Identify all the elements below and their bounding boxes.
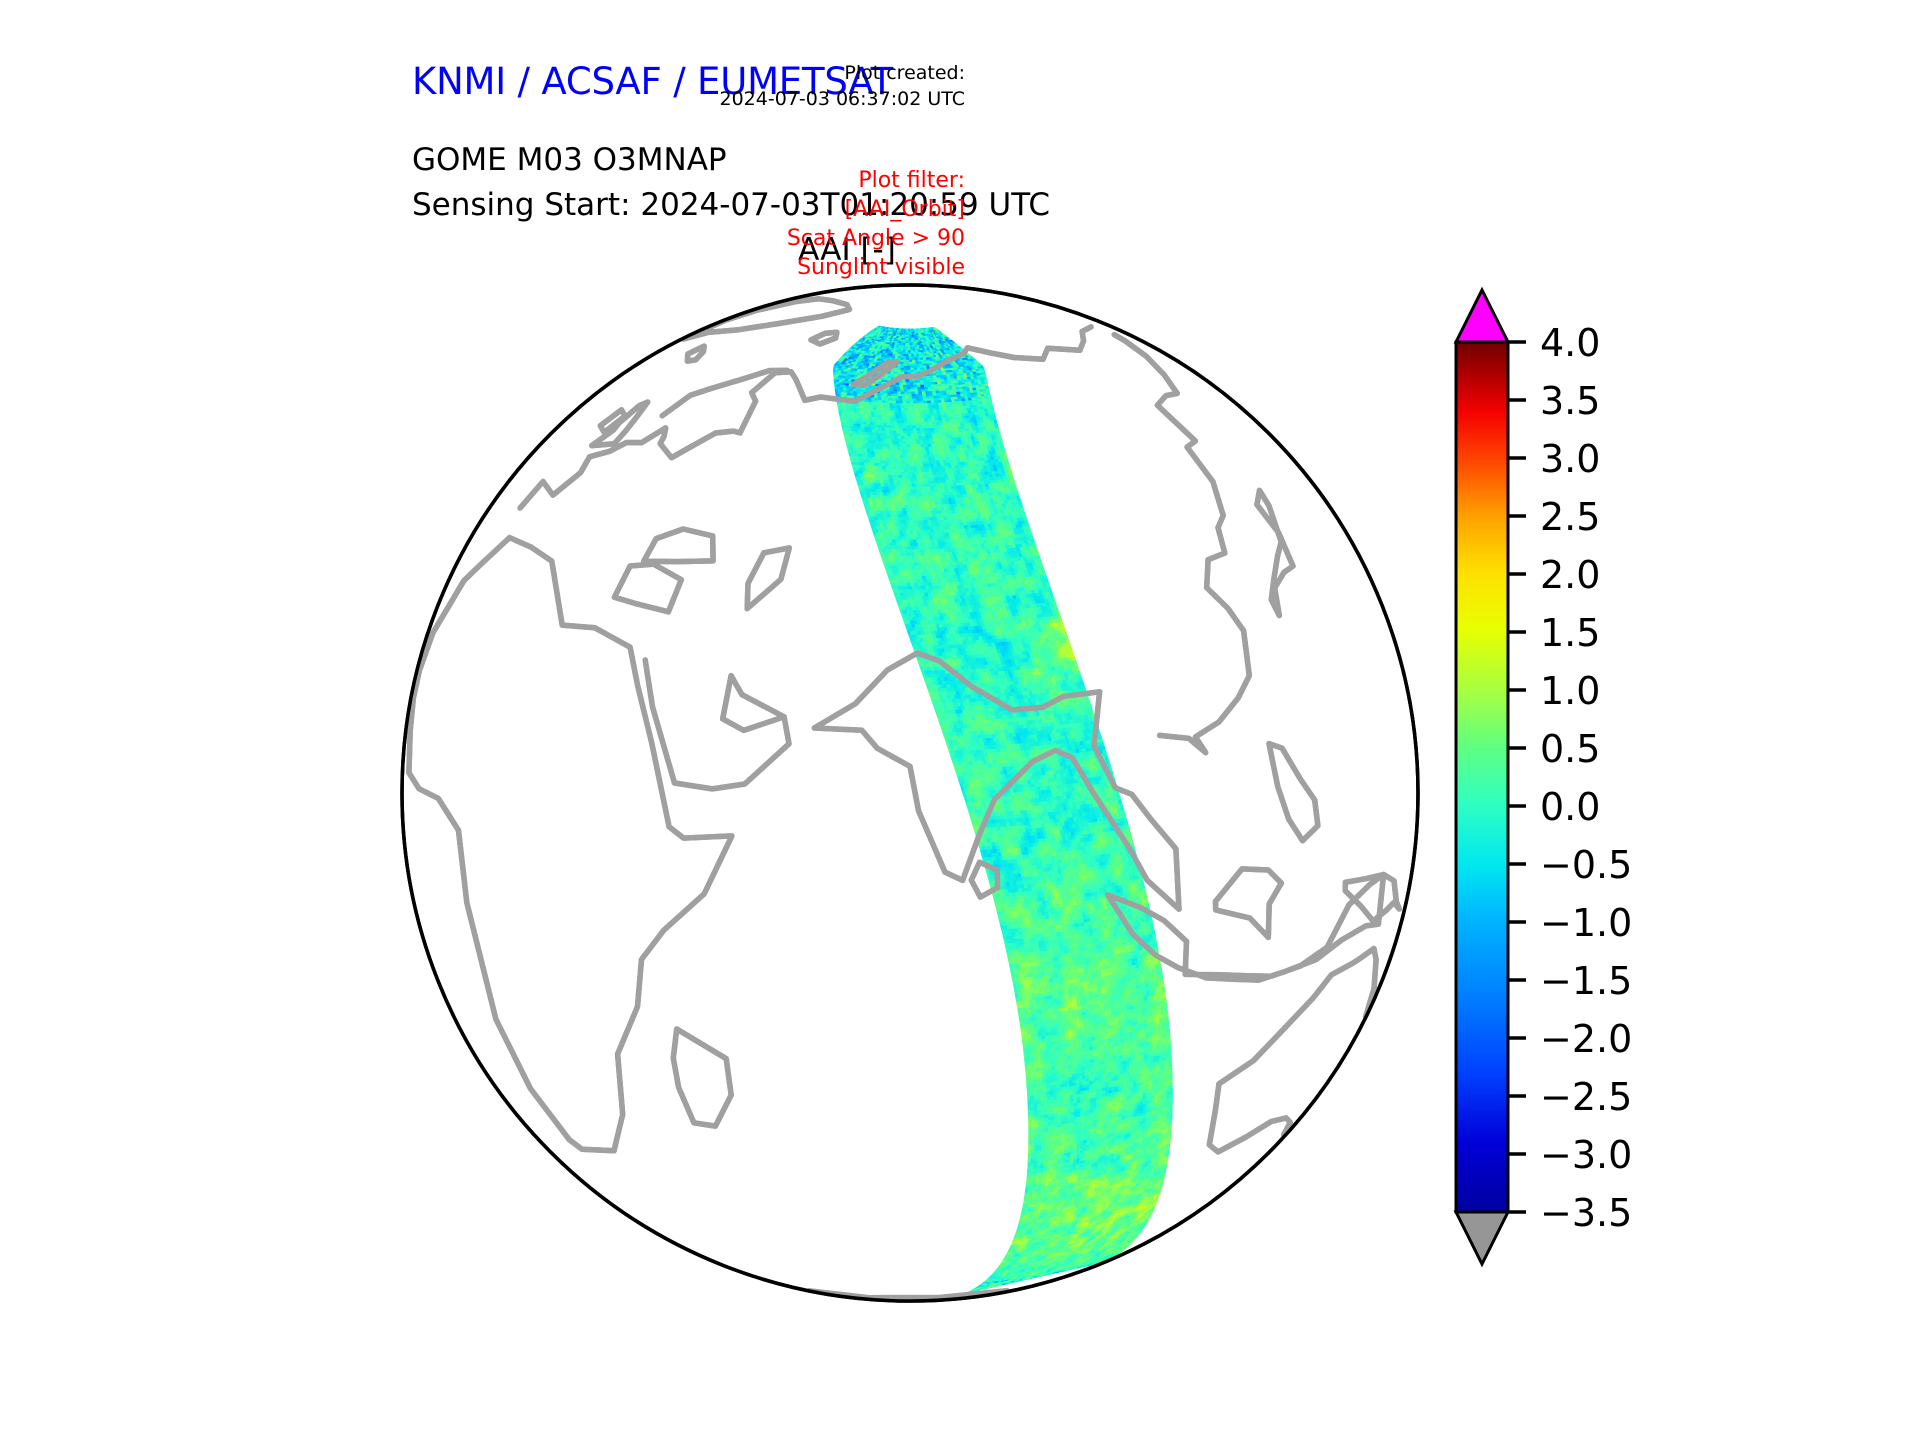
colorbar-tick-label: 3.5	[1540, 379, 1600, 423]
plot-filter-scat-angle: Scat Angle > 90	[787, 224, 965, 253]
product-title: GOME M03 O3MNAP	[412, 142, 727, 178]
colorbar-tick-label: 1.0	[1540, 669, 1600, 713]
colorbar-tick-label: 2.0	[1540, 553, 1600, 597]
plot-created-label: Plot created:	[720, 60, 966, 86]
plot-page: KNMI / ACSAF / EUMETSAT GOME M03 O3MNAP …	[0, 0, 1920, 1440]
colorbar-gradient	[1456, 342, 1508, 1212]
colorbar-tick-label: −1.0	[1540, 901, 1632, 945]
globe-map	[395, 278, 1425, 1308]
colorbar-under-arrow	[1456, 1212, 1508, 1264]
colorbar-tick-labels: 4.03.53.02.52.01.51.00.50.0−0.5−1.0−1.5−…	[1540, 321, 1632, 1235]
colorbar-tick-label: 2.5	[1540, 495, 1600, 539]
colorbar-tick-label: −2.0	[1540, 1017, 1632, 1061]
map-panel	[395, 278, 1425, 1308]
colorbar-tick-label: −0.5	[1540, 843, 1632, 887]
colorbar-tick-label: −1.5	[1540, 959, 1632, 1003]
colorbar-tick-label: 4.0	[1540, 321, 1600, 365]
colorbar-ticks	[1508, 342, 1526, 1212]
plot-created-timestamp: 2024-07-03 06:37:02 UTC	[720, 86, 966, 112]
colorbar-tick-label: 0.5	[1540, 727, 1600, 771]
colorbar-tick-label: 1.5	[1540, 611, 1600, 655]
plot-filter-block: Plot filter: [AAI_Orbit] Scat Angle > 90…	[787, 166, 965, 282]
colorbar-tick-label: −3.5	[1540, 1191, 1632, 1235]
colorbar-panel: 4.03.53.02.52.01.51.00.50.0−0.5−1.0−1.5−…	[1440, 282, 1860, 1302]
colorbar: 4.03.53.02.52.01.51.00.50.0−0.5−1.0−1.5−…	[1440, 282, 1860, 1302]
colorbar-tick-label: 3.0	[1540, 437, 1600, 481]
plot-filter-label: Plot filter:	[787, 166, 965, 195]
colorbar-over-arrow	[1456, 290, 1508, 342]
plot-filter-name: [AAI_Orbit]	[787, 195, 965, 224]
colorbar-tick-label: 0.0	[1540, 785, 1600, 829]
plot-created-block: Plot created: 2024-07-03 06:37:02 UTC	[720, 60, 966, 112]
colorbar-tick-label: −3.0	[1540, 1133, 1632, 1177]
colorbar-tick-label: −2.5	[1540, 1075, 1632, 1119]
